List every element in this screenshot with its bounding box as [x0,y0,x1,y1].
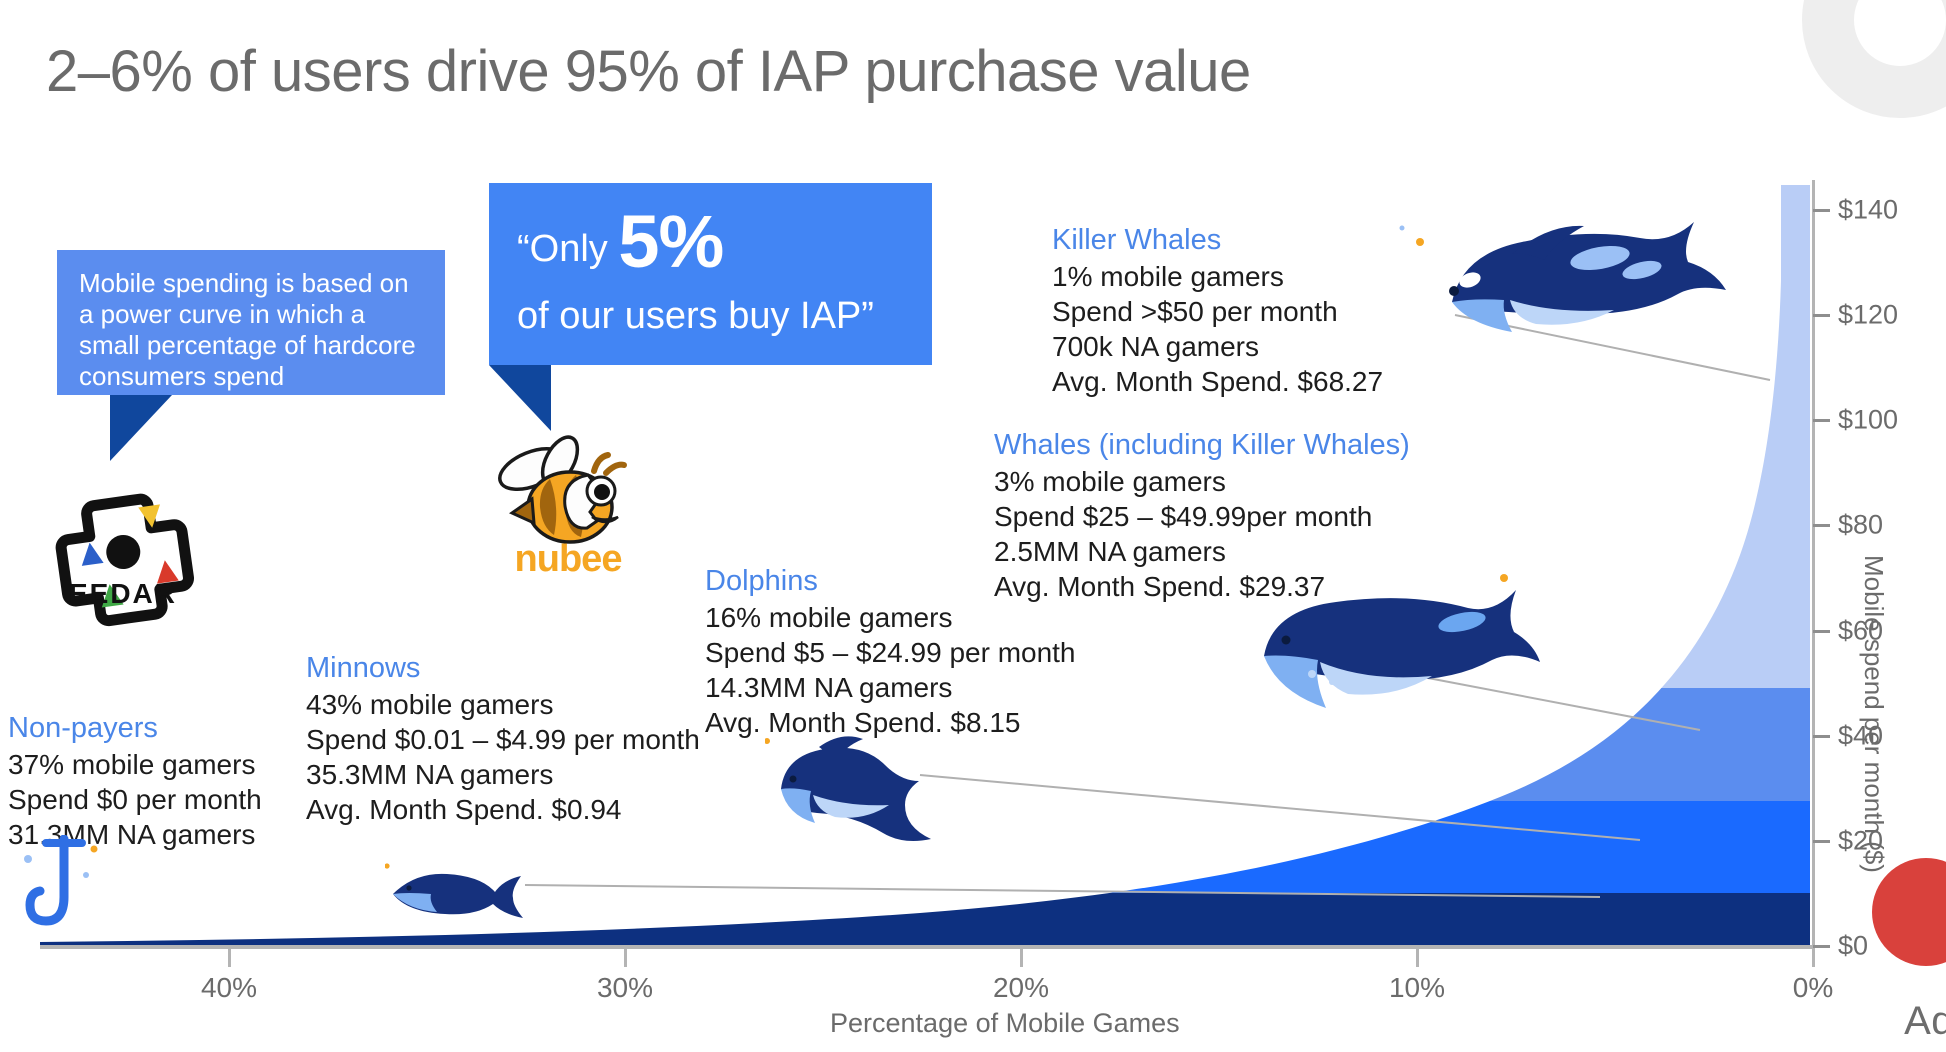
callout-quote-box: “Only 5% of our users buy IAP” [489,183,932,365]
segment-block-non-payers: Non-payers 37% mobile gamers Spend $0 pe… [8,710,262,852]
y-axis-label-100: $100 [1838,405,1898,436]
nubee-wordmark: nubee [488,538,648,581]
segment-block-minnows: Minnows 43% mobile gamers Spend $0.01 – … [306,650,700,828]
segment-title-non-payers: Non-payers [8,710,262,747]
y-axis-label-120: $120 [1838,300,1898,331]
segment-line: Spend $25 – $49.99per month [994,499,1410,534]
segment-line: Spend >$50 per month [1052,294,1383,329]
segment-line: 3% mobile gamers [994,464,1410,499]
y-tick-0 [1813,945,1830,948]
killer-whale-illustration [1390,210,1735,375]
y-axis-label-140: $140 [1838,195,1898,226]
x-axis-line [40,945,1815,949]
x-axis-label-30: 30% [597,972,653,1004]
callout-quote-prefix: “Only [517,228,618,270]
callout-quote-big-number: 5% [618,200,723,283]
y-tick-40 [1813,735,1830,738]
segment-title-whales: Whales (including Killer Whales) [994,427,1410,464]
x-tick-10 [1416,949,1419,967]
callout-note-box: Mobile spending is based on a power curv… [57,250,445,395]
segment-line: 16% mobile gamers [705,600,1076,635]
corner-wordmark: Ad [1904,999,1946,1044]
segment-title-minnows: Minnows [306,650,700,687]
x-axis-label-10: 10% [1389,972,1445,1004]
segment-line: 43% mobile gamers [306,687,700,722]
callout-note-tail [110,395,172,461]
callout-quote-line-2: of our users buy IAP” [517,297,904,337]
fishing-hook-illustration [22,835,107,950]
callout-quote-line-1: “Only 5% [517,205,904,279]
y-tick-120 [1813,314,1830,317]
segment-line: Spend $5 – $24.99 per month [705,635,1076,670]
y-tick-100 [1813,419,1830,422]
decorative-ring-shape [1802,0,1946,118]
segment-line: 2.5MM NA gamers [994,534,1410,569]
segment-block-killer-whales: Killer Whales 1% mobile gamers Spend >$5… [1052,222,1383,400]
x-axis-label-20: 20% [993,972,1049,1004]
y-tick-80 [1813,524,1830,527]
eedar-wordmark: EEDAR [48,578,198,610]
blue-whale-illustration [1250,570,1540,755]
x-axis-title: Percentage of Mobile Games [830,1008,1180,1039]
page-title: 2–6% of users drive 95% of IAP purchase … [46,38,1251,105]
segment-line: 35.3MM NA gamers [306,757,700,792]
x-axis-label-0: 0% [1793,972,1833,1004]
segment-line: 700k NA gamers [1052,329,1383,364]
segment-line: Avg. Month Spend. $68.27 [1052,364,1383,399]
y-tick-140 [1813,209,1830,212]
segment-title-killer-whales: Killer Whales [1052,222,1383,259]
x-axis-label-40: 40% [201,972,257,1004]
y-axis-label-0: $0 [1838,931,1868,962]
segment-line: Spend $0.01 – $4.99 per month [306,722,700,757]
segment-line: Avg. Month Spend. $0.94 [306,792,700,827]
y-tick-20 [1813,840,1830,843]
x-tick-20 [1020,949,1023,967]
y-tick-60 [1813,630,1830,633]
minnow-fish-illustration [385,862,525,922]
y-axis-label-80: $80 [1838,510,1883,541]
segment-line: 1% mobile gamers [1052,259,1383,294]
dolphin-illustration [765,735,950,865]
x-tick-40 [228,949,231,967]
segment-line: 37% mobile gamers [8,747,262,782]
callout-quote-tail [489,365,551,431]
decorative-red-circle [1872,858,1946,966]
y-axis-line [1812,180,1815,948]
segment-line: 14.3MM NA gamers [705,670,1076,705]
y-axis-title: Mobile spend per month ($) [1858,555,1889,873]
band-minnows-nonpayers [40,893,1810,945]
segment-line: Spend $0 per month [8,782,262,817]
x-tick-30 [624,949,627,967]
x-tick-0 [1812,949,1815,967]
